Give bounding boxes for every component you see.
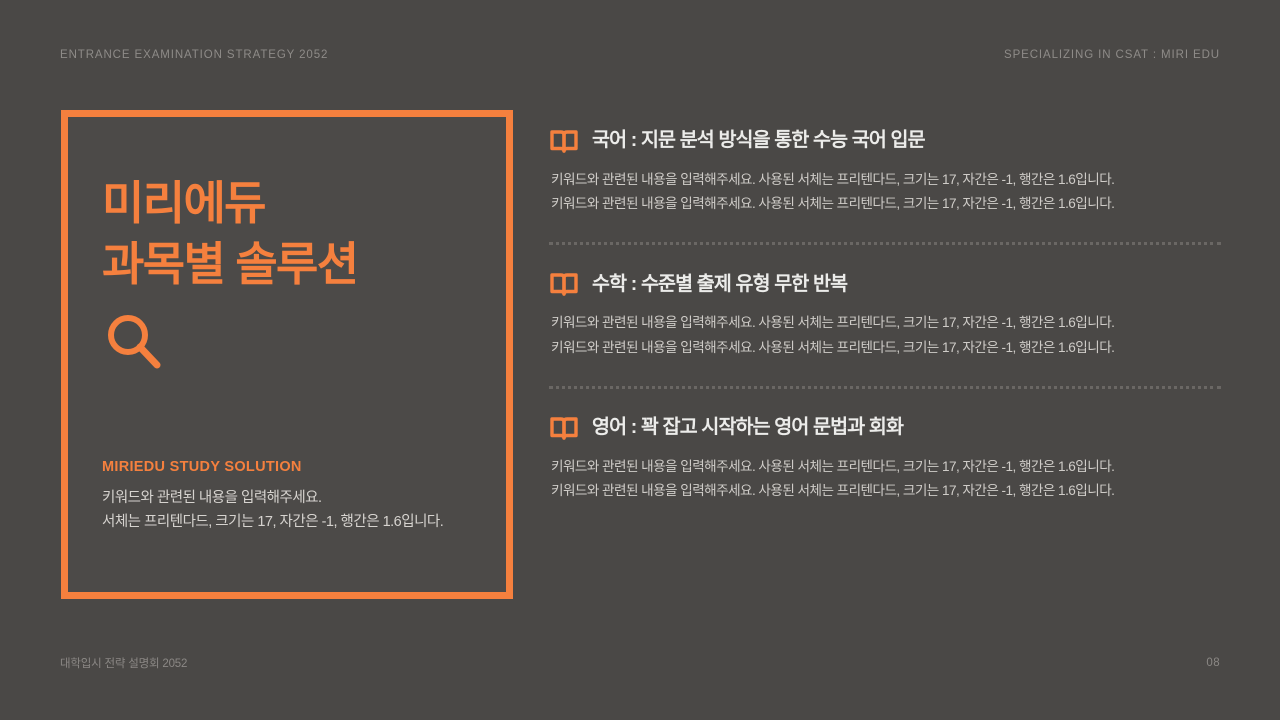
subject-section-korean: 국어 : 지문 분석 방식을 통한 수능 국어 입문 키워드와 관련된 내용을 … xyxy=(549,128,1221,216)
hero-description: 키워드와 관련된 내용을 입력해주세요. 서체는 프리텐다드, 크기는 17, … xyxy=(102,487,472,534)
section-body-line: 키워드와 관련된 내용을 입력해주세요. 사용된 서체는 프리텐다드, 크기는 … xyxy=(551,192,1221,216)
section-body-line: 키워드와 관련된 내용을 입력해주세요. 사용된 서체는 프리텐다드, 크기는 … xyxy=(551,336,1221,360)
hero-icon-container xyxy=(102,310,472,380)
open-book-icon xyxy=(549,271,579,297)
section-title: 영어 : 꽉 잡고 시작하는 영어 문법과 회화 xyxy=(592,416,903,439)
section-heading: 영어 : 꽉 잡고 시작하는 영어 문법과 회화 xyxy=(549,415,1221,441)
open-book-icon xyxy=(549,128,579,154)
slide-footer: 대학입시 전략 설명회 2052 08 xyxy=(60,654,1220,672)
subject-section-english: 영어 : 꽉 잡고 시작하는 영어 문법과 회화 키워드와 관련된 내용을 입력… xyxy=(549,415,1221,503)
hero-card-content: 미리에듀 과목별 솔루션 MIRIEDU STUDY SOLUTION 키워드와… xyxy=(68,117,506,592)
header-right-label: SPECIALIZING IN CSAT : MIRI EDU xyxy=(1004,49,1220,61)
hero-spacer xyxy=(102,380,472,459)
section-body: 키워드와 관련된 내용을 입력해주세요. 사용된 서체는 프리텐다드, 크기는 … xyxy=(549,311,1221,359)
hero-title: 미리에듀 과목별 솔루션 xyxy=(102,173,472,294)
section-body-line: 키워드와 관련된 내용을 입력해주세요. 사용된 서체는 프리텐다드, 크기는 … xyxy=(551,455,1221,479)
slide-canvas: ENTRANCE EXAMINATION STRATEGY 2052 SPECI… xyxy=(0,0,1280,720)
section-divider xyxy=(549,386,1221,389)
section-body-line: 키워드와 관련된 내용을 입력해주세요. 사용된 서체는 프리텐다드, 크기는 … xyxy=(551,168,1221,192)
section-heading: 수학 : 수준별 출제 유형 무한 반복 xyxy=(549,271,1221,297)
section-heading: 국어 : 지문 분석 방식을 통한 수능 국어 입문 xyxy=(549,128,1221,154)
section-body-line: 키워드와 관련된 내용을 입력해주세요. 사용된 서체는 프리텐다드, 크기는 … xyxy=(551,479,1221,503)
hero-card: 미리에듀 과목별 솔루션 MIRIEDU STUDY SOLUTION 키워드와… xyxy=(61,110,513,599)
subject-section-math: 수학 : 수준별 출제 유형 무한 반복 키워드와 관련된 내용을 입력해주세요… xyxy=(549,271,1221,359)
section-divider xyxy=(549,242,1221,245)
magnifier-icon xyxy=(102,310,166,374)
section-title: 국어 : 지문 분석 방식을 통한 수능 국어 입문 xyxy=(592,129,925,152)
open-book-icon xyxy=(549,415,579,441)
slide-header: ENTRANCE EXAMINATION STRATEGY 2052 SPECI… xyxy=(60,45,1220,65)
section-title: 수학 : 수준별 출제 유형 무한 반복 xyxy=(592,273,847,296)
section-body: 키워드와 관련된 내용을 입력해주세요. 사용된 서체는 프리텐다드, 크기는 … xyxy=(549,455,1221,503)
header-left-label: ENTRANCE EXAMINATION STRATEGY 2052 xyxy=(60,49,328,61)
hero-eyebrow-label: MIRIEDU STUDY SOLUTION xyxy=(102,459,472,475)
footer-label: 대학입시 전략 설명회 2052 xyxy=(60,655,187,671)
page-number: 08 xyxy=(1206,657,1220,669)
section-body: 키워드와 관련된 내용을 입력해주세요. 사용된 서체는 프리텐다드, 크기는 … xyxy=(549,168,1221,216)
section-body-line: 키워드와 관련된 내용을 입력해주세요. 사용된 서체는 프리텐다드, 크기는 … xyxy=(551,311,1221,335)
subject-sections-list: 국어 : 지문 분석 방식을 통한 수능 국어 입문 키워드와 관련된 내용을 … xyxy=(549,128,1221,503)
